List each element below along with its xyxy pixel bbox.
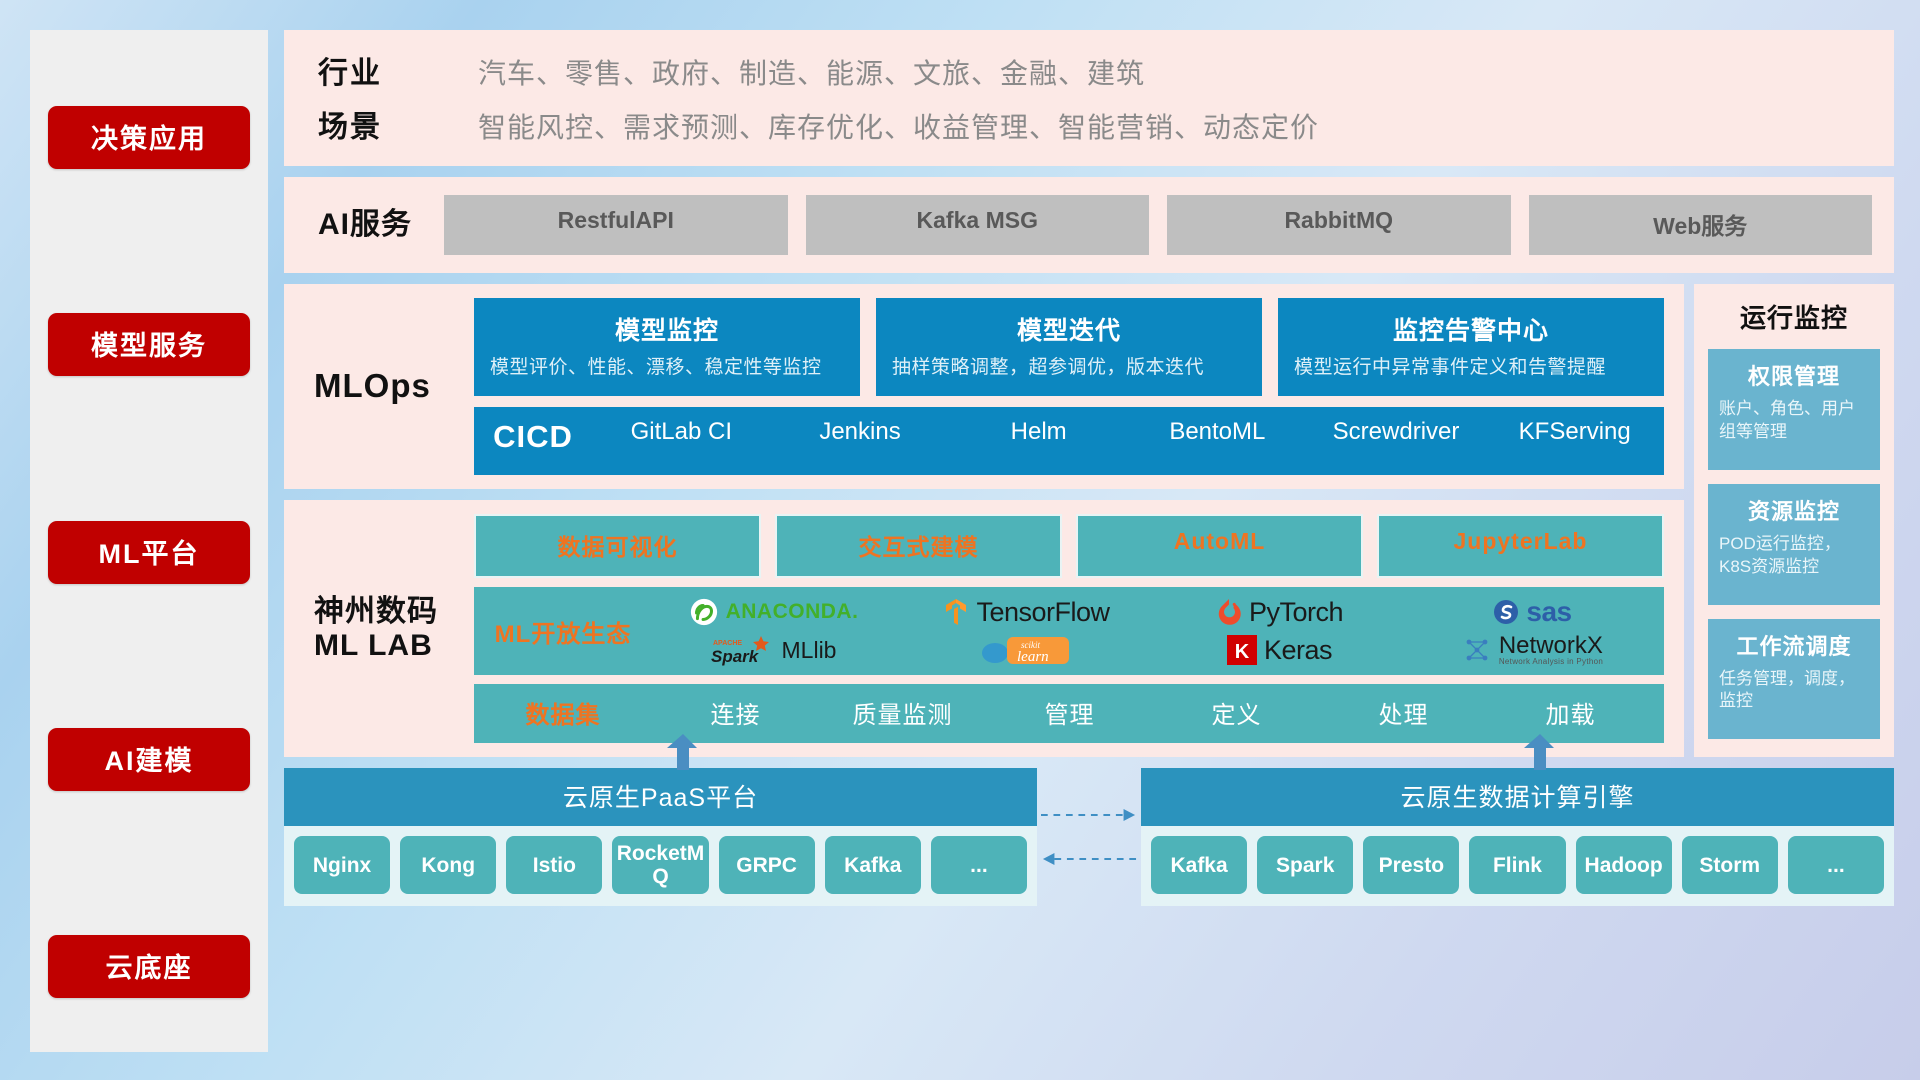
pytorch-logo[interactable]: PyTorch	[1158, 595, 1401, 629]
ai-service-chip-list: RestfulAPI Kafka MSG RabbitMQ Web服务	[444, 195, 1872, 255]
card-title: 资源监控	[1719, 494, 1869, 526]
logo-text: TensorFlow	[976, 597, 1109, 628]
rail-item-cloud-foundation[interactable]: 云底座	[48, 935, 250, 998]
svg-text:Spark: Spark	[711, 647, 760, 666]
anaconda-logo[interactable]: ANACONDA.	[652, 595, 895, 629]
logo-text: sas	[1526, 596, 1571, 628]
monitor-card-resource-monitoring[interactable]: 资源监控 POD运行监控，K8S资源监控	[1708, 484, 1880, 605]
dataset-item-quality-monitor[interactable]: 质量监测	[819, 695, 986, 730]
cloud-chip-flink[interactable]: Flink	[1469, 836, 1565, 894]
ml-ecosystem-label: ML开放生态	[474, 595, 652, 667]
runtime-monitor-title: 运行监控	[1708, 298, 1880, 335]
cloud-compute-chip-list: Kafka Spark Presto Flink Hadoop Storm ..…	[1141, 826, 1894, 906]
spark-icon: APACHE Spark	[711, 634, 775, 666]
cicd-item-list: GitLab CI Jenkins Helm BentoML Screwdriv…	[592, 419, 1664, 446]
cicd-label: CICD	[474, 419, 592, 455]
ml-ecosystem-row: ML开放生态 ANACONDA.	[474, 587, 1664, 675]
industry-label: 行业	[318, 48, 478, 92]
cicd-item-helm[interactable]: Helm	[949, 419, 1128, 446]
cloud-chip-rocketmq[interactable]: RocketMQ	[612, 836, 708, 894]
cicd-item-screwdriver[interactable]: Screwdriver	[1307, 419, 1486, 446]
rail-item-ai-modeling[interactable]: AI建模	[48, 728, 250, 791]
rail-item-model-service[interactable]: 模型服务	[48, 313, 250, 376]
dataset-item-define[interactable]: 定义	[1153, 695, 1320, 730]
card-title: 监控告警中心	[1294, 311, 1648, 347]
mlops-band: MLOps 模型监控 模型评价、性能、漂移、稳定性等监控 模型迭代 抽样策略调整…	[284, 284, 1684, 489]
dataset-row: 数据集 连接 质量监测 管理 定义 处理 加载	[474, 684, 1664, 743]
cloud-chip-more-left[interactable]: ...	[931, 836, 1027, 894]
sas-logo[interactable]: sas	[1411, 595, 1654, 629]
cloud-paas-column: 云原生PaaS平台 Nginx Kong Istio RocketMQ GRPC…	[284, 768, 1037, 906]
cloud-chip-hadoop[interactable]: Hadoop	[1576, 836, 1672, 894]
ai-service-chip-web-service[interactable]: Web服务	[1529, 195, 1873, 255]
cicd-item-gitlab-ci[interactable]: GitLab CI	[592, 419, 771, 446]
industry-values: 汽车、零售、政府、制造、能源、文旅、金融、建筑	[478, 52, 1145, 92]
ai-service-chip-rabbitmq[interactable]: RabbitMQ	[1167, 195, 1511, 255]
logo-text: NetworkX	[1499, 634, 1603, 658]
card-desc: 任务管理，调度，监控	[1719, 668, 1869, 714]
svg-text:APACHE: APACHE	[713, 640, 742, 647]
platform-middle-left: MLOps 模型监控 模型评价、性能、漂移、稳定性等监控 模型迭代 抽样策略调整…	[284, 284, 1684, 757]
tool-chip-automl[interactable]: AutoML	[1076, 514, 1363, 578]
ai-service-chip-kafka-msg[interactable]: Kafka MSG	[806, 195, 1150, 255]
layer-stack: 行业 汽车、零售、政府、制造、能源、文旅、金融、建筑 场景 智能风控、需求预测、…	[284, 30, 1894, 1052]
mlops-card-list: 模型监控 模型评价、性能、漂移、稳定性等监控 模型迭代 抽样策略调整，超参调优，…	[474, 298, 1664, 396]
cloud-chip-presto[interactable]: Presto	[1363, 836, 1459, 894]
dataset-item-load[interactable]: 加载	[1487, 695, 1654, 730]
cicd-item-kfserving[interactable]: KFServing	[1485, 419, 1664, 446]
ai-service-label: AI服务	[318, 208, 444, 242]
architecture-diagram: 决策应用 模型服务 ML平台 AI建模 云底座 行业 汽车、零售、政府、制造、能…	[0, 0, 1920, 1080]
cloud-foundation-band: 云原生PaaS平台 Nginx Kong Istio RocketMQ GRPC…	[284, 768, 1894, 906]
card-title: 工作流调度	[1719, 629, 1869, 661]
logo-text: PyTorch	[1249, 597, 1343, 628]
card-title: 模型监控	[490, 311, 844, 347]
spark-mllib-logo[interactable]: APACHE Spark MLlib	[652, 633, 895, 667]
tensorflow-icon	[943, 597, 969, 627]
arrow-right-dashed-icon	[1041, 808, 1137, 822]
networkx-icon	[1462, 635, 1492, 665]
svg-text:learn: learn	[1017, 649, 1049, 665]
cloud-chip-grpc[interactable]: GRPC	[719, 836, 815, 894]
scenario-label: 场景	[318, 102, 478, 146]
networkx-logo[interactable]: NetworkX Network Analysis in Python	[1411, 633, 1654, 667]
platform-middle: MLOps 模型监控 模型评价、性能、漂移、稳定性等监控 模型迭代 抽样策略调整…	[284, 284, 1894, 757]
svg-text:K: K	[1235, 641, 1250, 663]
card-desc: POD运行监控，K8S资源监控	[1719, 533, 1869, 579]
mlops-label: MLOps	[314, 298, 474, 475]
scenario-row: 场景 智能风控、需求预测、库存优化、收益管理、智能营销、动态定价	[318, 102, 1870, 146]
sas-icon	[1493, 599, 1519, 625]
dataset-item-list: 连接 质量监测 管理 定义 处理 加载	[652, 695, 1654, 730]
industry-row: 行业 汽车、零售、政府、制造、能源、文旅、金融、建筑	[318, 48, 1870, 92]
cloud-paas-header: 云原生PaaS平台	[284, 768, 1037, 826]
mlops-card-model-iteration[interactable]: 模型迭代 抽样策略调整，超参调优，版本迭代	[876, 298, 1262, 396]
rail-item-ml-platform[interactable]: ML平台	[48, 521, 250, 584]
card-desc: 模型运行中异常事件定义和告警提醒	[1294, 355, 1648, 380]
card-desc: 账户、角色、用户组等管理	[1719, 398, 1869, 444]
cicd-item-bentoml[interactable]: BentoML	[1128, 419, 1307, 446]
logo-text: MLlib	[782, 637, 837, 664]
cloud-paas-chip-list: Nginx Kong Istio RocketMQ GRPC Kafka ...	[284, 826, 1037, 906]
ml-lab-label: 神州数码 ML LAB	[314, 514, 474, 743]
keras-logo[interactable]: K Keras	[1158, 633, 1401, 667]
cloud-chip-spark[interactable]: Spark	[1257, 836, 1353, 894]
cicd-row: CICD GitLab CI Jenkins Helm BentoML Scre…	[474, 407, 1664, 475]
tensorflow-logo[interactable]: TensorFlow	[905, 595, 1148, 629]
ml-lab-content: 数据可视化 交互式建模 AutoML JupyterLab ML开放生态	[474, 514, 1664, 743]
scenario-values: 智能风控、需求预测、库存优化、收益管理、智能营销、动态定价	[478, 106, 1319, 146]
scikit-learn-icon: scikit learn	[981, 633, 1073, 667]
business-band: 行业 汽车、零售、政府、制造、能源、文旅、金融、建筑 场景 智能风控、需求预测、…	[284, 30, 1894, 166]
runtime-monitor-panel: 运行监控 权限管理 账户、角色、用户组等管理 资源监控 POD运行监控，K8S资…	[1694, 284, 1894, 757]
monitor-card-permission-management[interactable]: 权限管理 账户、角色、用户组等管理	[1708, 349, 1880, 470]
mlops-card-alert-center[interactable]: 监控告警中心 模型运行中异常事件定义和告警提醒	[1278, 298, 1664, 396]
monitor-card-workflow-scheduling[interactable]: 工作流调度 任务管理，调度，监控	[1708, 619, 1880, 740]
pytorch-icon	[1216, 598, 1242, 626]
tool-chip-data-visualization[interactable]: 数据可视化	[474, 514, 761, 578]
ai-service-chip-restfulapi[interactable]: RestfulAPI	[444, 195, 788, 255]
dataset-label: 数据集	[474, 695, 652, 730]
card-desc: 模型评价、性能、漂移、稳定性等监控	[490, 355, 844, 380]
ml-ecosystem-logo-grid: ANACONDA. TensorFlow	[652, 595, 1654, 667]
cloud-chip-kafka-left[interactable]: Kafka	[825, 836, 921, 894]
logo-subtext: Network Analysis in Python	[1499, 658, 1603, 666]
cloud-compute-header: 云原生数据计算引擎	[1141, 768, 1894, 826]
ml-lab-label-line2: ML LAB	[314, 629, 438, 663]
logo-text: ANACONDA.	[726, 600, 859, 624]
cicd-item-jenkins[interactable]: Jenkins	[771, 419, 950, 446]
mlops-card-model-monitoring[interactable]: 模型监控 模型评价、性能、漂移、稳定性等监控	[474, 298, 860, 396]
anaconda-icon	[689, 597, 719, 627]
cloud-chip-istio[interactable]: Istio	[506, 836, 602, 894]
dataset-item-connect[interactable]: 连接	[652, 695, 819, 730]
arrow-left-dashed-icon	[1041, 852, 1137, 866]
ai-service-band: AI服务 RestfulAPI Kafka MSG RabbitMQ Web服务	[284, 177, 1894, 273]
rail-item-decision-application[interactable]: 决策应用	[48, 106, 250, 169]
ml-lab-label-line1: 神州数码	[314, 595, 438, 629]
cloud-chip-nginx[interactable]: Nginx	[294, 836, 390, 894]
cloud-chip-storm[interactable]: Storm	[1682, 836, 1778, 894]
card-title: 权限管理	[1719, 359, 1869, 391]
tool-chip-jupyterlab[interactable]: JupyterLab	[1377, 514, 1664, 578]
cloud-chip-more-right[interactable]: ...	[1788, 836, 1884, 894]
card-title: 模型迭代	[892, 311, 1246, 347]
ml-lab-band: 神州数码 ML LAB 数据可视化 交互式建模 AutoML JupyterLa…	[284, 500, 1684, 757]
layer-rail: 决策应用 模型服务 ML平台 AI建模 云底座	[30, 30, 268, 1052]
cloud-link-arrows	[1037, 768, 1141, 906]
dataset-item-manage[interactable]: 管理	[986, 695, 1153, 730]
logo-text: Keras	[1264, 635, 1332, 666]
ml-lab-tool-row: 数据可视化 交互式建模 AutoML JupyterLab	[474, 514, 1664, 578]
scikit-learn-logo[interactable]: scikit learn	[905, 633, 1148, 667]
cloud-chip-kong[interactable]: Kong	[400, 836, 496, 894]
cloud-compute-column: 云原生数据计算引擎 Kafka Spark Presto Flink Hadoo…	[1141, 768, 1894, 906]
card-desc: 抽样策略调整，超参调优，版本迭代	[892, 355, 1246, 380]
tool-chip-interactive-modeling[interactable]: 交互式建模	[775, 514, 1062, 578]
keras-icon: K	[1227, 635, 1257, 665]
cloud-chip-kafka-right[interactable]: Kafka	[1151, 836, 1247, 894]
dataset-item-process[interactable]: 处理	[1320, 695, 1487, 730]
